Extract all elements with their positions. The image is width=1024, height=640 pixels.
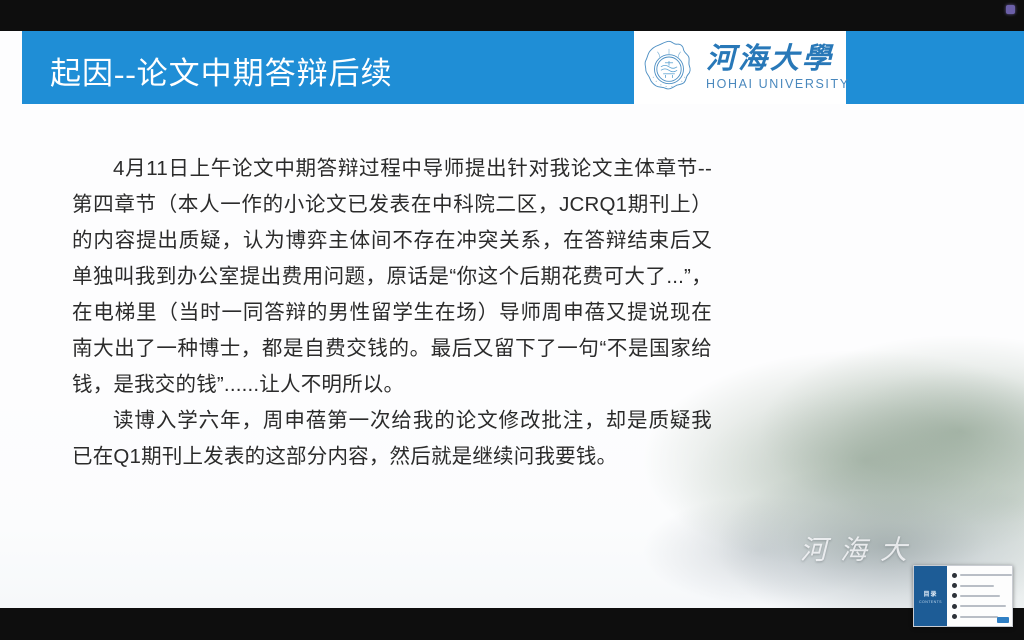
pip-text-line — [960, 605, 1006, 607]
pip-contents-label-cn: 目录 — [923, 589, 937, 598]
pip-list-item — [952, 604, 1012, 609]
letterbox-top-bar — [0, 0, 1024, 31]
pip-text-line — [960, 574, 1012, 576]
app-indicator-icon[interactable] — [1006, 5, 1015, 14]
paragraph-2: 读博入学六年，周申蓓第一次给我的论文修改批注，却是质疑我已在Q1期刊上发表的这部… — [72, 403, 712, 475]
university-name-cn: 河海大學 — [706, 45, 850, 74]
pip-text-line — [960, 595, 1000, 597]
hohai-university-seal-icon — [640, 39, 698, 97]
university-name-block: 河海大學 HOHAI UNIVERSITY — [706, 45, 850, 91]
pip-list-item — [952, 583, 1012, 588]
university-name-en: HOHAI UNIVERSITY — [706, 78, 850, 91]
slide-body-text: 4月11日上午论文中期答辩过程中导师提出针对我论文主体章节--第四章节（本人一作… — [72, 151, 712, 475]
pip-page-badge — [997, 617, 1009, 623]
bullet-dot-icon — [952, 573, 957, 578]
paragraph-1: 4月11日上午论文中期答辩过程中导师提出针对我论文主体章节--第四章节（本人一作… — [72, 151, 712, 403]
slide-title: 起因--论文中期答辩后续 — [50, 48, 393, 93]
pip-text-line — [960, 585, 994, 587]
pip-slide-thumbnail[interactable]: 目录 CONTENTS — [913, 565, 1013, 627]
pip-list-item — [952, 573, 1012, 578]
pip-list-item — [952, 593, 1012, 598]
video-player-screen: 河海大 4月11日上午论文中期答辩过程中导师提出针对我论文主体章节--第四章节（… — [0, 0, 1024, 640]
bullet-dot-icon — [952, 614, 957, 619]
bullet-dot-icon — [952, 583, 957, 588]
pip-contents-panel: 目录 CONTENTS — [914, 566, 947, 626]
letterbox-bottom-bar — [0, 608, 1024, 640]
slide-canvas: 河海大 4月11日上午论文中期答辩过程中导师提出针对我论文主体章节--第四章节（… — [0, 31, 1024, 608]
rock-inscription-text: 河海大 — [800, 528, 920, 567]
slide-title-banner: 起因--论文中期答辩后续 — [22, 31, 1024, 104]
pip-contents-label-en: CONTENTS — [919, 600, 942, 604]
pip-text-line — [960, 616, 998, 618]
university-logo: 河海大學 HOHAI UNIVERSITY — [634, 31, 846, 104]
bullet-dot-icon — [952, 593, 957, 598]
bullet-dot-icon — [952, 604, 957, 609]
